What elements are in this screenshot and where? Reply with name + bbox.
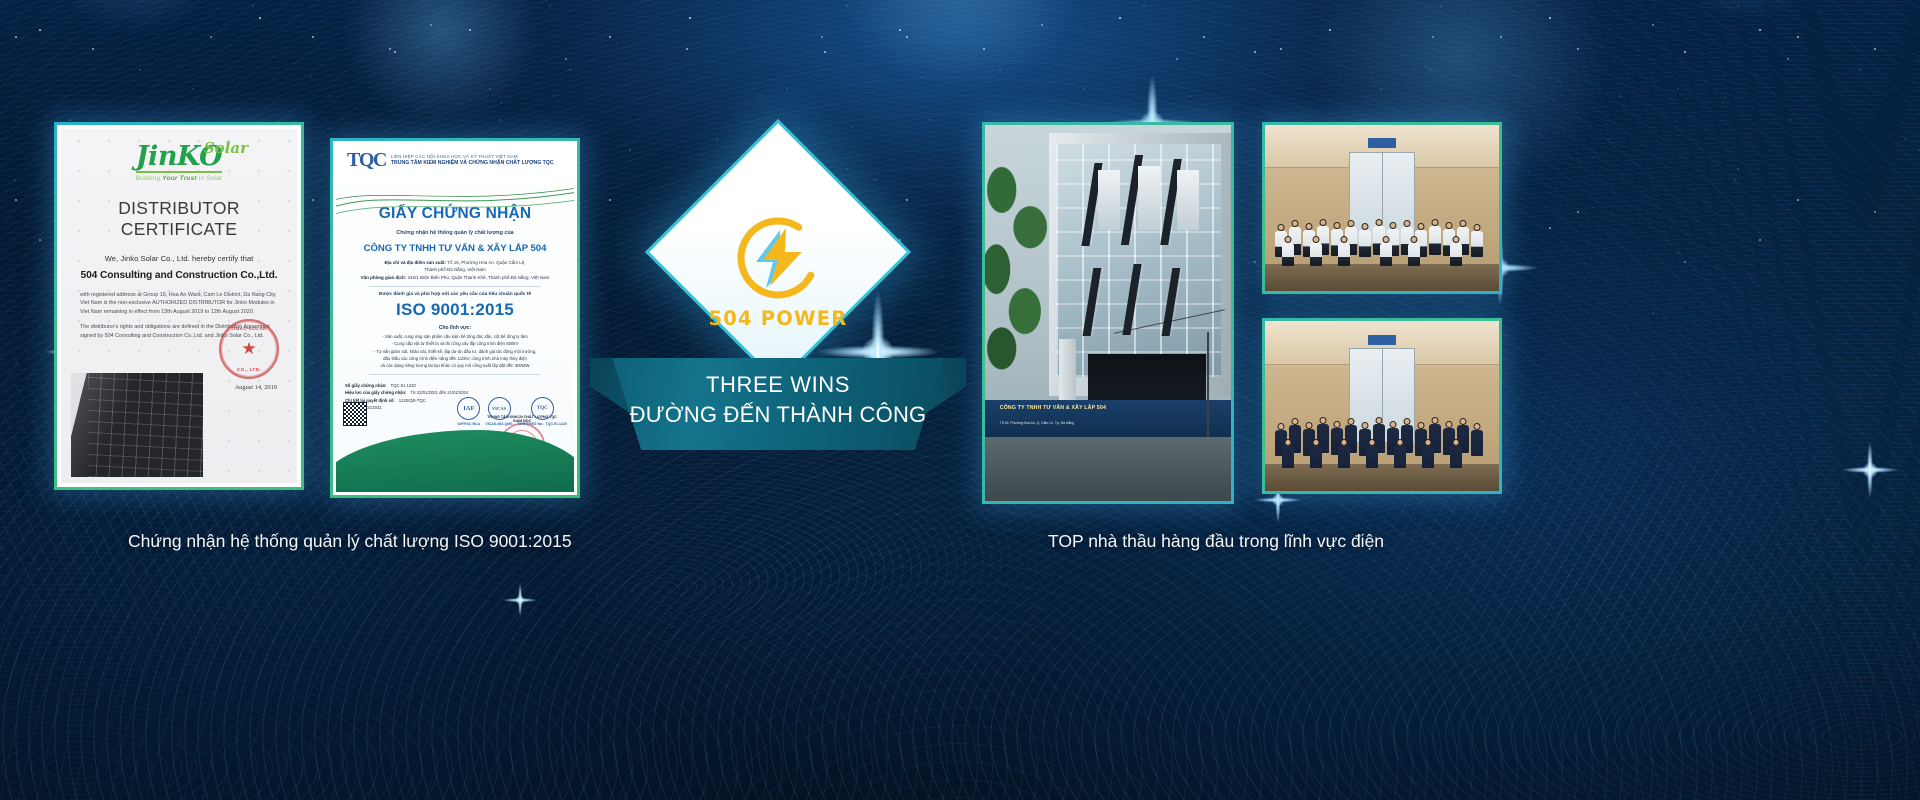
certificate-date: August 14, 2019 <box>235 384 277 391</box>
ground-pavement <box>985 437 1231 501</box>
jinko-logo: Solar JinKO Building Your Trust in Solar <box>74 143 284 182</box>
office-line: Văn phòng giao dịch: 242/1 Điện Biên Phủ… <box>345 274 565 281</box>
tagline-pre: Building <box>136 175 163 182</box>
address-label: Địa chỉ và địa điểm sản xuất: <box>385 260 447 265</box>
scope-item-2: - Cung cấp vật tư thiết bị và thi công x… <box>345 340 565 347</box>
tqc-header-text: LIÊN HIỆP CÁC HỘI KHOA HỌC VÀ KỸ THUẬT V… <box>391 154 554 166</box>
signboard-main-text: CÔNG TY TNHH TƯ VẤN & XÂY LẮP 504 <box>1000 405 1106 411</box>
certified-company-name: 504 Consulting and Construction Co.,Ltd. <box>74 270 284 281</box>
tqc-header: TQC LIÊN HIỆP CÁC HỘI KHOA HỌC VÀ KỸ THU… <box>345 151 565 169</box>
scope-item-5: và các dạng năng lượng tái tạo khác có q… <box>345 362 565 369</box>
certificate-title: DISTRIBUTOR CERTIFICATE <box>74 198 284 241</box>
hill-front <box>336 430 574 492</box>
promo-banner-stage: Solar JinKO Building Your Trust in Solar… <box>0 0 1920 800</box>
office-label: Văn phòng giao dịch: <box>361 275 407 280</box>
divider <box>369 286 541 287</box>
tagline-mid: Your Trust <box>162 175 197 182</box>
person <box>1338 236 1351 283</box>
signboard-sub-text: Tổ 16, Phường Hòa An, Q. Cẩm Lệ, Tp. Đà … <box>1000 421 1074 425</box>
scope-item-1: - Sản xuất, cung ứng sản phẩm cấu kiện b… <box>345 333 565 340</box>
jinko-tagline: Building Your Trust in Solar <box>74 175 284 182</box>
tqc-standard-number: ISO 9001:2015 <box>345 300 565 320</box>
tagline-post: in Solar <box>197 175 223 182</box>
person <box>1429 219 1442 278</box>
person <box>1281 236 1294 283</box>
tqc-address-block: Địa chỉ và địa điểm sản xuất: Tổ 16, Phư… <box>345 259 565 281</box>
person <box>1450 236 1463 283</box>
person <box>1359 223 1372 278</box>
tagline-english: THREE WINS <box>598 372 958 398</box>
team-photo-white-uniform[interactable] <box>1262 122 1502 294</box>
certificate-title-line1: DISTRIBUTOR <box>74 198 284 219</box>
person <box>1366 439 1379 485</box>
address-line2: Thành phố Đà Nẵng, Việt Nam <box>345 266 565 273</box>
brand-name: 504 POWER <box>700 307 856 330</box>
certificate-title-line2: CERTIFICATE <box>74 219 284 240</box>
tqc-evaluation-line: Được đánh giá và phù hợp với các yêu cầu… <box>345 292 565 297</box>
staff-group <box>1265 372 1499 477</box>
bolt-ring-svg <box>736 216 820 300</box>
lightning-bolt-icon <box>736 216 820 300</box>
tqc-certificate-subtitle: Chứng nhận hệ thống quản lý chất lượng c… <box>345 230 565 236</box>
tqc-header-line2: TRUNG TÂM KIỂM NGHIỆM VÀ CHỨNG NHẬN CHẤT… <box>391 160 554 166</box>
address-value: Tổ 16, Phường Hòa An, Quận Cẩm Lệ, <box>447 260 525 265</box>
team-photo-navy-uniform[interactable] <box>1262 318 1502 494</box>
window-pane <box>1098 170 1120 230</box>
tagline-vietnamese: ĐƯỜNG ĐẾN THÀNH CÔNG <box>598 402 958 428</box>
person <box>1408 236 1421 283</box>
company-seal-stamp: JINKO SOLAR CO., LTD. <box>219 319 279 379</box>
tqc-footer-hills <box>336 400 574 492</box>
cert-no-label: Số giấy chứng nhận: <box>345 382 387 389</box>
person <box>1309 236 1322 283</box>
company-building-photo[interactable]: CÔNG TY TNHH TƯ VẤN & XÂY LẮP 504 Tổ 16,… <box>982 122 1234 504</box>
person <box>1380 236 1393 283</box>
person <box>1422 439 1435 485</box>
signboard: CÔNG TY TNHH TƯ VẤN & XÂY LẮP 504 Tổ 16,… <box>985 400 1231 438</box>
tqc-iso-certificate[interactable]: TQC LIÊN HIỆP CÁC HỘI KHOA HỌC VÀ KỸ THU… <box>330 138 580 498</box>
center-logo-group[interactable]: 504 POWER THREE WINS ĐƯỜNG ĐẾN THÀNH CÔN… <box>598 158 958 458</box>
panel-shine <box>71 373 203 477</box>
scope-item-4: đấu thầu các công trình điện năng đến 11… <box>345 355 565 362</box>
power-emblem: 504 POWER <box>700 216 856 330</box>
validity-value: Từ 22/01/2021 đến 21/01/2024 <box>410 389 468 396</box>
jinko-distributor-certificate[interactable]: Solar JinKO Building Your Trust in Solar… <box>54 122 304 490</box>
solar-panel-photo <box>71 373 203 477</box>
person <box>1471 423 1484 478</box>
window-pane <box>1177 170 1199 230</box>
person <box>1338 439 1351 485</box>
wall-sign <box>1368 138 1396 148</box>
validity-label: Hiệu lực của giấy chứng nhận: <box>345 389 406 396</box>
scope-item-3: - Tư vấn giám sát, khảo sát, thiết kế, l… <box>345 348 565 355</box>
foliage-tree <box>985 148 1064 381</box>
window-pane <box>1138 166 1160 230</box>
person <box>1394 439 1407 485</box>
utility-pole <box>1207 332 1209 437</box>
jinko-wordmark: JinKO <box>74 143 284 170</box>
team-room-2 <box>1265 321 1499 491</box>
person <box>1309 439 1322 485</box>
tqc-certified-company: CÔNG TY TNHH TƯ VẤN & XÂY LẮP 504 <box>345 243 565 254</box>
tqc-certificate-title: GIẤY CHỨNG NHẬN <box>345 205 565 223</box>
office-value: 242/1 Điện Biên Phủ, Quận Thanh Khê, Thà… <box>408 275 550 280</box>
tqc-logo-mark: TQC <box>347 151 386 169</box>
seal-top-text: JINKO SOLAR <box>221 326 277 331</box>
staff-group <box>1265 175 1499 278</box>
team-room-1 <box>1265 125 1499 291</box>
jinko-solar-wordmark: Solar <box>204 139 248 157</box>
cert-no-value: TQC.91.1220 <box>391 382 416 389</box>
person <box>1450 439 1463 485</box>
seal-bottom-text: CO., LTD. <box>221 367 277 372</box>
address-line: Địa chỉ và địa điểm sản xuất: Tổ 16, Phư… <box>345 259 565 266</box>
person <box>1281 439 1294 485</box>
certificate-sheet: Solar JinKO Building Your Trust in Solar… <box>61 129 297 483</box>
divider <box>369 374 541 375</box>
tqc-scope-label: Cho lĩnh vực: <box>345 325 565 331</box>
tqc-scope-list: - Sản xuất, cung ứng sản phẩm cấu kiện b… <box>345 333 565 369</box>
certify-statement: We, Jinko Solar Co., Ltd. hereby certify… <box>74 254 284 263</box>
wall-sign <box>1368 335 1396 345</box>
certificate-paragraph-1: with registered address at Group 16, Hoa… <box>74 291 284 317</box>
validity-row: Hiệu lực của giấy chứng nhận:Từ 22/01/20… <box>345 389 565 396</box>
caption-left: Chứng nhận hệ thống quản lý chất lượng I… <box>128 531 572 552</box>
cert-no-row: Số giấy chứng nhận:TQC.91.1220 <box>345 382 565 389</box>
building-image: CÔNG TY TNHH TƯ VẤN & XÂY LẮP 504 Tổ 16,… <box>985 125 1231 501</box>
tagline-banner: THREE WINS ĐƯỜNG ĐẾN THÀNH CÔNG <box>598 358 958 450</box>
person <box>1471 224 1484 278</box>
certificate-sheet: TQC LIÊN HIỆP CÁC HỘI KHOA HỌC VÀ KỸ THU… <box>336 144 574 492</box>
caption-right: TOP nhà thầu hàng đầu trong lĩnh vực điệ… <box>1048 531 1384 552</box>
